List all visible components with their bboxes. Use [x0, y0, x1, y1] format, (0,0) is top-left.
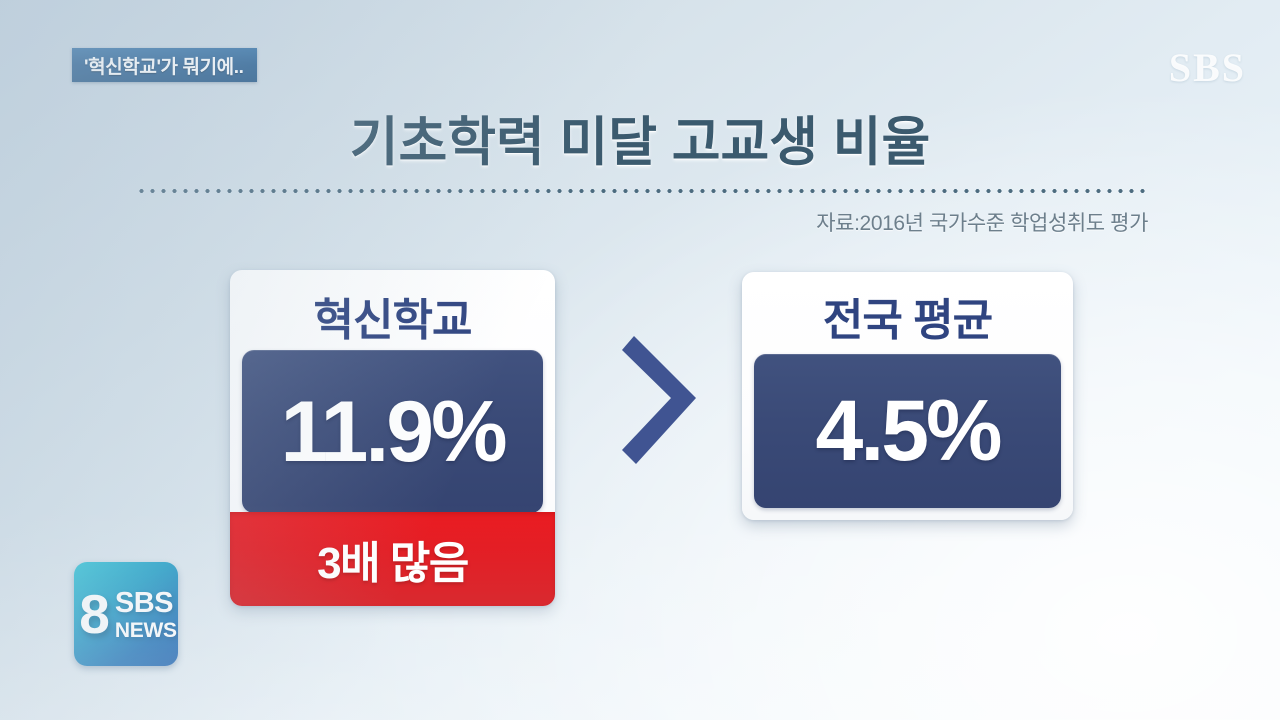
- stat-card-right-value-box: 4.5%: [754, 354, 1061, 508]
- channel-number: 8: [79, 587, 110, 642]
- news-graphic-screen: '혁신학교'가 뭐기에.. SBS 기초학력 미달 고교생 비율 자료:2016…: [0, 0, 1280, 720]
- stat-card-left-footnote-banner: 3배 많음: [230, 512, 555, 606]
- sbs-news-bug-inner: 8 SBS NEWS: [74, 562, 178, 666]
- sbs-logo-watermark: SBS: [1169, 44, 1246, 91]
- topic-banner-label: '혁신학교'가 뭐기에..: [84, 52, 244, 79]
- dotted-divider: [136, 188, 1146, 194]
- stat-card-left-value: 11.9%: [280, 389, 504, 475]
- sbs-news-bug-logo: 8 SBS NEWS: [74, 562, 178, 666]
- bug-brand-label: SBS: [115, 589, 177, 618]
- topic-banner: '혁신학교'가 뭐기에..: [72, 48, 257, 82]
- stat-card-left-footnote: 3배 많음: [317, 527, 468, 591]
- stat-card-right-value: 4.5%: [815, 388, 999, 474]
- bug-program-label: NEWS: [115, 620, 177, 641]
- page-title: 기초학력 미달 고교생 비율: [0, 100, 1280, 176]
- stat-card-left-value-box: 11.9%: [242, 350, 543, 513]
- stat-card-left-header: 혁신학교: [230, 284, 555, 348]
- stat-card-right-header: 전국 평균: [742, 284, 1073, 348]
- source-attribution: 자료:2016년 국가수준 학업성취도 평가: [816, 207, 1148, 237]
- stat-card-national-average: 전국 평균 4.5%: [742, 272, 1073, 520]
- bug-wordmark: SBS NEWS: [115, 587, 177, 641]
- greater-than-chevron-icon: [616, 330, 712, 470]
- stat-card-innovation-school: 혁신학교 11.9% 3배 많음: [230, 270, 555, 606]
